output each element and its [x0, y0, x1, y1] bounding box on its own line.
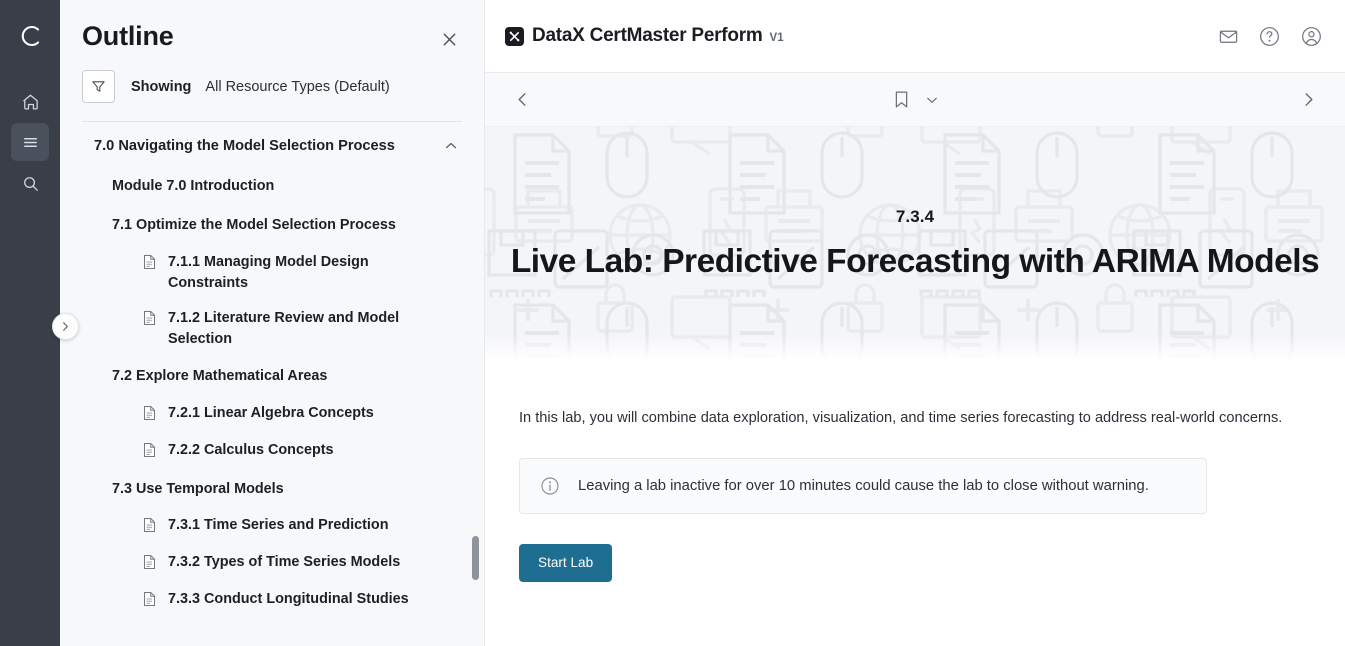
- document-icon: [142, 517, 158, 538]
- showing-label: Showing: [131, 79, 191, 95]
- document-icon: [142, 442, 158, 463]
- lesson-intro-text: In this lab, you will combine data explo…: [519, 408, 1305, 430]
- inactivity-notice-text: Leaving a lab inactive for over 10 minut…: [578, 478, 1149, 494]
- help-circle-icon[interactable]: [1258, 25, 1281, 48]
- mail-icon[interactable]: [1218, 26, 1239, 47]
- showing-value[interactable]: All Resource Types (Default): [205, 79, 389, 95]
- sidebar-collapse-toggle[interactable]: [52, 313, 79, 340]
- lesson-hero-banner: 7.3.4 Live Lab: Predictive Forecasting w…: [485, 127, 1345, 360]
- left-rail: [0, 0, 60, 646]
- outline-item[interactable]: 7.1.1 Managing Model Design Constraints: [82, 245, 462, 301]
- outline-item[interactable]: 7.2.2 Calculus Concepts: [82, 433, 462, 470]
- brand-version: V1: [770, 32, 784, 44]
- document-icon: [142, 554, 158, 575]
- rail-item-outline[interactable]: [11, 123, 49, 161]
- outline-item-label: 7.1.1 Managing Model Design Constraints: [168, 252, 418, 294]
- info-circle-icon: [540, 476, 560, 496]
- outline-item-label: 7.3 Use Temporal Models: [112, 479, 284, 500]
- outline-item-label: 7.2.1 Linear Algebra Concepts: [168, 403, 374, 424]
- start-lab-button[interactable]: Start Lab: [519, 544, 612, 582]
- inactivity-notice: Leaving a lab inactive for over 10 minut…: [519, 458, 1207, 514]
- document-icon: [142, 591, 158, 612]
- chevron-right-icon: [1300, 91, 1317, 108]
- outline-item-label: 7.3.1 Time Series and Prediction: [168, 515, 388, 536]
- bookmark-group: [541, 89, 1289, 110]
- filter-funnel-icon: [90, 78, 107, 95]
- main-content: DataX CertMaster Perform V1: [485, 0, 1345, 646]
- lesson-number: 7.3.4: [896, 207, 934, 227]
- outline-item[interactable]: 7.3.3 Conduct Longitudinal Studies: [82, 582, 462, 619]
- previous-page-button[interactable]: [503, 81, 541, 119]
- outline-scrollbar[interactable]: [472, 132, 479, 642]
- user-circle-icon[interactable]: [1300, 25, 1323, 48]
- outline-item[interactable]: 7.1.2 Literature Review and Model Select…: [82, 301, 462, 357]
- hero-fade-overlay: [485, 334, 1345, 360]
- document-icon: [142, 310, 158, 331]
- chevron-up-icon[interactable]: [444, 139, 458, 153]
- brand: DataX CertMaster Perform V1: [505, 25, 784, 47]
- content-navbar: [485, 73, 1345, 127]
- next-page-button[interactable]: [1289, 81, 1327, 119]
- document-icon: [142, 405, 158, 426]
- outline-item[interactable]: 7.2.1 Linear Algebra Concepts: [82, 396, 462, 433]
- outline-item-label: Module 7.0 Introduction: [112, 176, 274, 197]
- outline-scrollbar-thumb[interactable]: [472, 536, 479, 580]
- filter-row: Showing All Resource Types (Default): [60, 52, 484, 103]
- outline-divider: [82, 121, 462, 122]
- filter-button[interactable]: [82, 70, 115, 103]
- lesson-title: Live Lab: Predictive Forecasting with AR…: [497, 243, 1333, 281]
- chevron-down-icon[interactable]: [925, 93, 939, 107]
- outline-item[interactable]: 7.1 Optimize the Model Selection Process: [82, 206, 462, 245]
- close-icon: [440, 30, 459, 49]
- outline-item[interactable]: 7.3 Use Temporal Models: [82, 470, 462, 509]
- chevron-right-icon: [60, 321, 71, 332]
- appbar-actions: [1218, 25, 1323, 48]
- outline-item-label: 7.1.2 Literature Review and Model Select…: [168, 308, 418, 350]
- datax-logo-icon: [505, 27, 524, 46]
- outline-item-label: 7.2 Explore Mathematical Areas: [112, 366, 327, 387]
- brand-name: DataX CertMaster Perform: [532, 25, 763, 47]
- outline-item[interactable]: 7.2 Explore Mathematical Areas: [82, 357, 462, 396]
- app-header: DataX CertMaster Perform V1: [485, 0, 1345, 73]
- outline-item[interactable]: 7.3.2 Types of Time Series Models: [82, 545, 462, 582]
- outline-item-label: 7.1 Optimize the Model Selection Process: [112, 215, 396, 236]
- chevron-left-icon: [514, 91, 531, 108]
- outline-item-label: 7.2.2 Calculus Concepts: [168, 440, 334, 461]
- close-outline-button[interactable]: [436, 26, 462, 52]
- outline-tree: 7.0 Navigating the Model Selection Proce…: [60, 124, 484, 619]
- app-root: Outline Showing All Resource Types (Defa…: [0, 0, 1345, 646]
- c-logo-icon[interactable]: [10, 16, 50, 56]
- outline-group-title: 7.0 Navigating the Model Selection Proce…: [94, 138, 395, 154]
- outline-item-label: 7.3.3 Conduct Longitudinal Studies: [168, 589, 409, 610]
- outline-header: Outline: [60, 0, 484, 52]
- document-icon: [142, 254, 158, 275]
- outline-item[interactable]: Module 7.0 Introduction: [82, 167, 462, 206]
- rail-item-search[interactable]: [11, 164, 49, 202]
- outline-group-header[interactable]: 7.0 Navigating the Model Selection Proce…: [82, 124, 462, 167]
- page-title: Outline: [82, 20, 174, 52]
- lesson-body: In this lab, you will combine data explo…: [485, 360, 1345, 646]
- outline-item-label: 7.3.2 Types of Time Series Models: [168, 552, 400, 573]
- outline-panel: Outline Showing All Resource Types (Defa…: [60, 0, 485, 646]
- rail-item-home[interactable]: [11, 82, 49, 120]
- bookmark-icon[interactable]: [892, 89, 911, 110]
- outline-item[interactable]: 7.3.1 Time Series and Prediction: [82, 508, 462, 545]
